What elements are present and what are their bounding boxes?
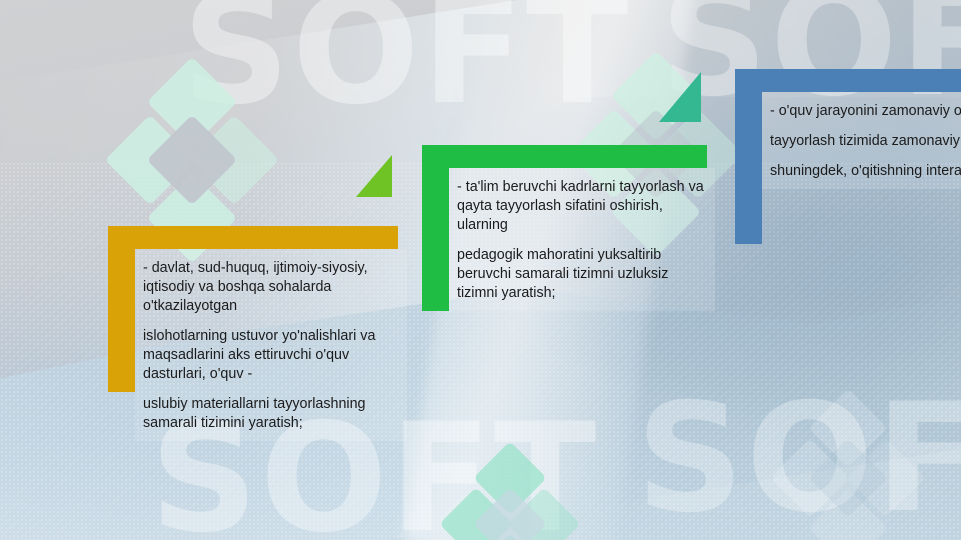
text-body-blue: - o'quv jarayonini zamonaviy o'quv-uslub… xyxy=(762,92,961,189)
paragraph: tayyorlash tizimida zamonaviy pedagogik,… xyxy=(770,132,961,151)
paragraph: - davlat, sud-huquq, ijtimoiy-siyosiy, i… xyxy=(143,259,401,316)
accent-bar-left-green xyxy=(422,145,449,311)
paragraph: - ta'lim beruvchi kadrlarni tayyorlash v… xyxy=(457,178,709,235)
paragraph: islohotlarning ustuvor yo'nalishlari va … xyxy=(143,327,401,384)
text-body-yellow: - davlat, sud-huquq, ijtimoiy-siyosiy, i… xyxy=(135,249,407,441)
accent-bar-left-yellow xyxy=(108,226,135,392)
lime-triangle-icon xyxy=(356,155,392,197)
text-body-green: - ta'lim beruvchi kadrlarni tayyorlash v… xyxy=(449,168,715,311)
accent-bar-top-green xyxy=(422,145,707,168)
accent-bar-top-yellow xyxy=(108,226,398,249)
paragraph: - o'quv jarayonini zamonaviy o'quv-uslub… xyxy=(770,102,961,121)
teal-triangle-icon xyxy=(659,72,701,122)
slide-canvas: SOFT SOFT SOFT SOFT - davlat, sud-huquq,… xyxy=(0,0,961,540)
accent-bar-left-blue xyxy=(735,69,762,244)
paragraph: pedagogik mahoratini yuksaltirib beruvch… xyxy=(457,246,709,303)
accent-bar-top-blue xyxy=(735,69,961,92)
paragraph: shuningdek, o'qitishning interaktiv usul… xyxy=(770,162,961,181)
paragraph: uslubiy materiallarni tayyorlashning sam… xyxy=(143,395,401,433)
